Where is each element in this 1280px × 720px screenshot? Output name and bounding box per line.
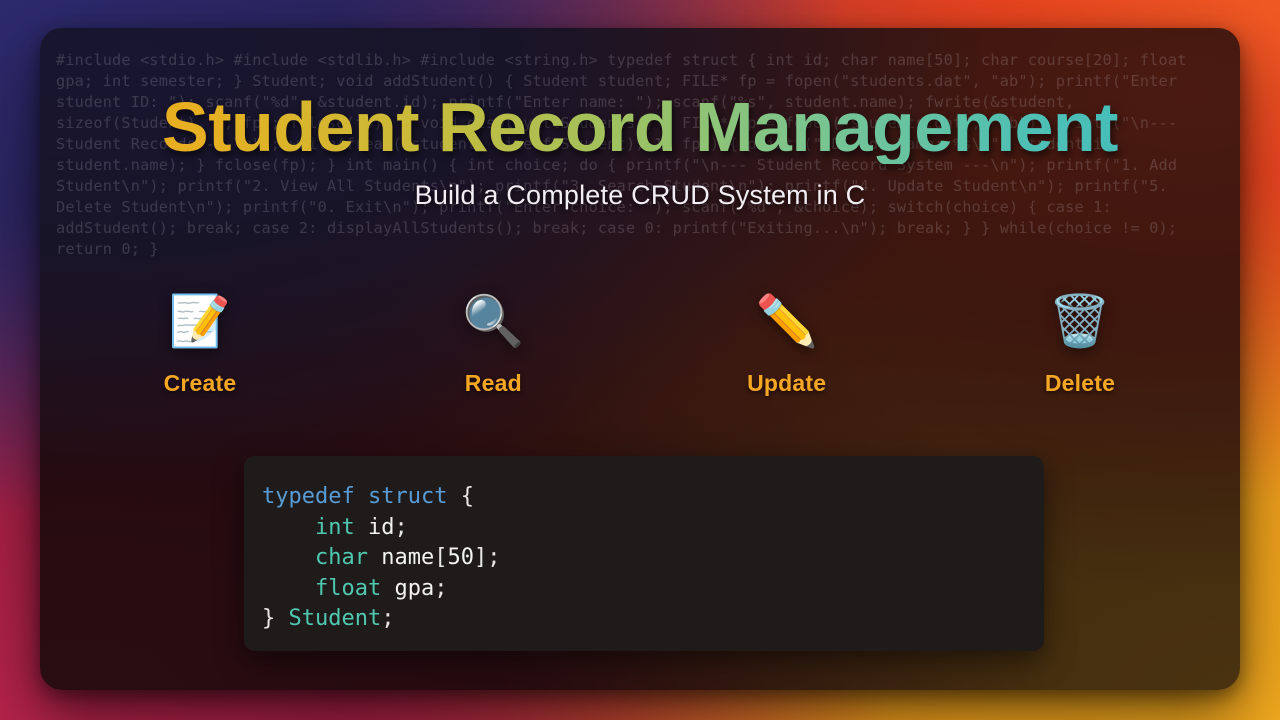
code-token: ;	[434, 576, 447, 601]
slide-card: #include <stdio.h> #include <stdlib.h> #…	[40, 28, 1240, 690]
crud-label-read: Read	[393, 370, 593, 397]
page-title: Student Record Management	[40, 90, 1240, 164]
crud-item-delete[interactable]: 🗑️ Delete	[980, 290, 1180, 397]
code-token	[355, 515, 368, 540]
hero-block: Student Record Management Build a Comple…	[40, 90, 1240, 211]
code-token: ];	[474, 545, 501, 570]
code-snippet-panel: typedef struct { int id; char name[50]; …	[244, 456, 1044, 651]
code-token: {	[447, 484, 474, 509]
code-token: ;	[381, 606, 394, 631]
wastebasket-icon: 🗑️	[980, 290, 1180, 352]
code-token: [	[434, 545, 447, 570]
code-token: Student	[289, 606, 382, 631]
crud-item-read[interactable]: 🔍 Read	[393, 290, 593, 397]
crud-item-create[interactable]: 📝 Create	[100, 290, 300, 397]
magnifier-icon: 🔍	[393, 290, 593, 352]
code-token: name	[381, 545, 434, 570]
code-token: 50	[447, 545, 474, 570]
crud-item-update[interactable]: ✏️ Update	[687, 290, 887, 397]
code-token: char	[315, 545, 368, 570]
crud-label-delete: Delete	[980, 370, 1180, 397]
code-token: float	[315, 576, 381, 601]
pencil-icon: ✏️	[687, 290, 887, 352]
code-token: struct	[368, 484, 447, 509]
code-token: typedef	[262, 484, 355, 509]
code-token: id	[368, 515, 395, 540]
page-subtitle: Build a Complete CRUD System in C	[40, 180, 1240, 211]
code-token: ;	[394, 515, 407, 540]
code-line: char name[50];	[262, 543, 1044, 574]
code-line: int id;	[262, 513, 1044, 544]
code-token	[381, 576, 394, 601]
code-token	[355, 484, 368, 509]
code-token: int	[315, 515, 355, 540]
crud-label-update: Update	[687, 370, 887, 397]
code-line: } Student;	[262, 604, 1044, 635]
crud-operations-row: 📝 Create 🔍 Read ✏️ Update 🗑️ Delete	[100, 290, 1180, 397]
code-token: }	[262, 606, 289, 631]
memo-icon: 📝	[100, 290, 300, 352]
code-token	[368, 545, 381, 570]
code-line: float gpa;	[262, 574, 1044, 605]
crud-label-create: Create	[100, 370, 300, 397]
code-token: gpa	[394, 576, 434, 601]
code-line: typedef struct {	[262, 482, 1044, 513]
